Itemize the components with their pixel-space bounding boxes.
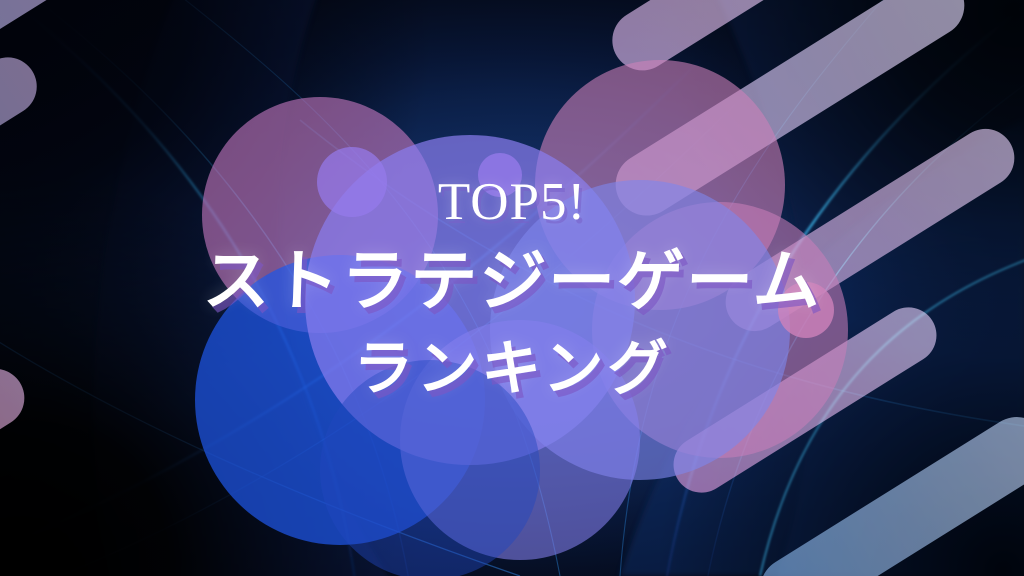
page-title: ストラテジーゲーム [201,247,822,315]
headline-block: TOP5! ストラテジーゲーム ランキング [0,0,1024,576]
page-subtitle: ランキング [352,339,672,400]
eyebrow-top5: TOP5! [438,176,586,229]
poster-canvas: TOP5! ストラテジーゲーム ランキング [0,0,1024,576]
